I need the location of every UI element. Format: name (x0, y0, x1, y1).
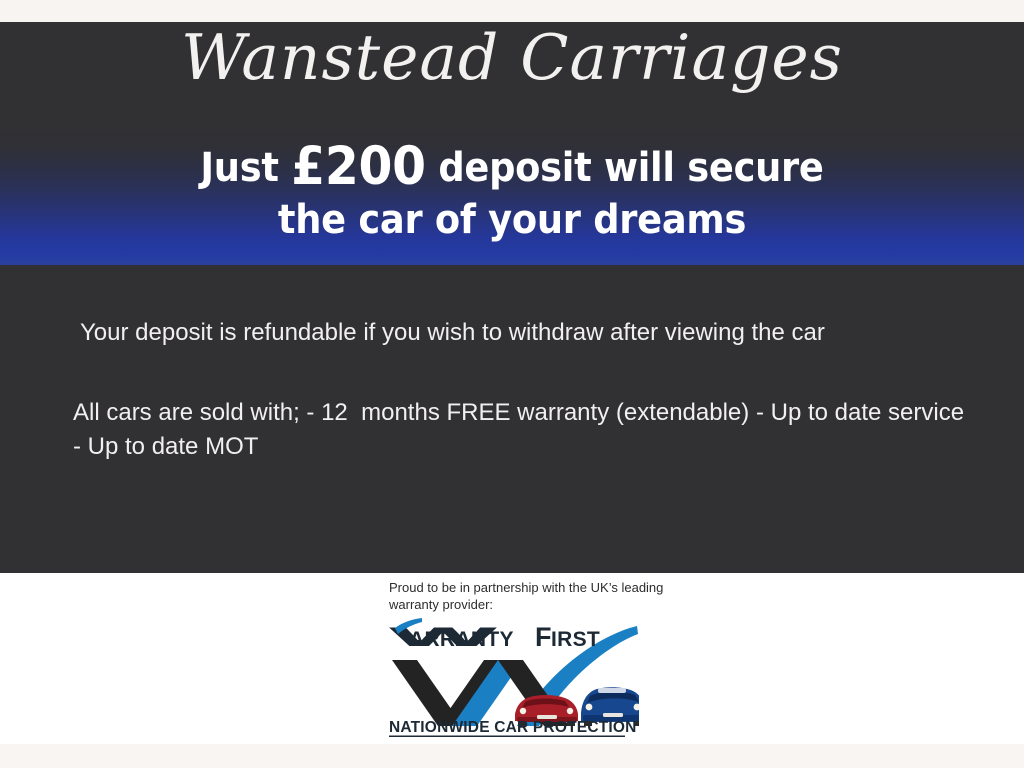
partner-intro-line-1: Proud to be in partnership with the (389, 580, 587, 595)
top-border-band (0, 0, 1024, 22)
offer-headline-prefix: Just (200, 145, 291, 191)
inclusion-item: - 12 months FREE warranty (extendable) (306, 399, 749, 426)
dealer-name-title: Wanstead Carriages (0, 26, 1024, 89)
offer-headline-suffix: deposit will secure (426, 145, 824, 191)
partner-intro-text: Proud to be in partnership with the UK’s… (389, 579, 689, 613)
advert-canvas: Wanstead Carriages Just £200 deposit wil… (0, 0, 1024, 768)
inclusions-heading: All cars are sold with; (73, 399, 300, 426)
offer-headline-line-2: the car of your dreams (278, 197, 746, 243)
logo-tagline-underline (389, 736, 625, 738)
offer-banner: Just £200 deposit will secure the car of… (0, 128, 1024, 265)
body-copy: Your deposit is refundable if you wish t… (0, 265, 1024, 573)
offer-amount: £200 (291, 136, 426, 197)
bottom-border-band (0, 744, 1024, 768)
inclusions-list: All cars are sold with; - 12 months FREE… (73, 396, 1024, 463)
warranty-first-logo: W ARRANTY F IRST (389, 616, 639, 737)
inclusion-item: - Up to date service (756, 399, 964, 426)
logo-wordmark-first-rest: IRST (551, 628, 600, 651)
logo-wordmark-warranty-rest: ARRANTY (409, 628, 514, 651)
offer-headline-line-1: Just £200 deposit will secure (41, 141, 983, 194)
inclusion-item: - Up to date MOT (73, 433, 258, 460)
logo-tagline: NATIONWIDE CAR PROTECTION (389, 719, 637, 736)
refund-policy-text: Your deposit is refundable if you wish t… (80, 319, 825, 347)
title-strip: Wanstead Carriages (0, 22, 1024, 128)
offer-headline: Just £200 deposit will secure the car of… (41, 141, 983, 246)
hero-panel: Wanstead Carriages Just £200 deposit wil… (0, 22, 1024, 573)
logo-wordmark-first: F (535, 622, 552, 652)
partner-panel: Proud to be in partnership with the UK’s… (0, 573, 1024, 744)
warranty-first-logo-graphic: W ARRANTY F IRST (389, 616, 639, 737)
